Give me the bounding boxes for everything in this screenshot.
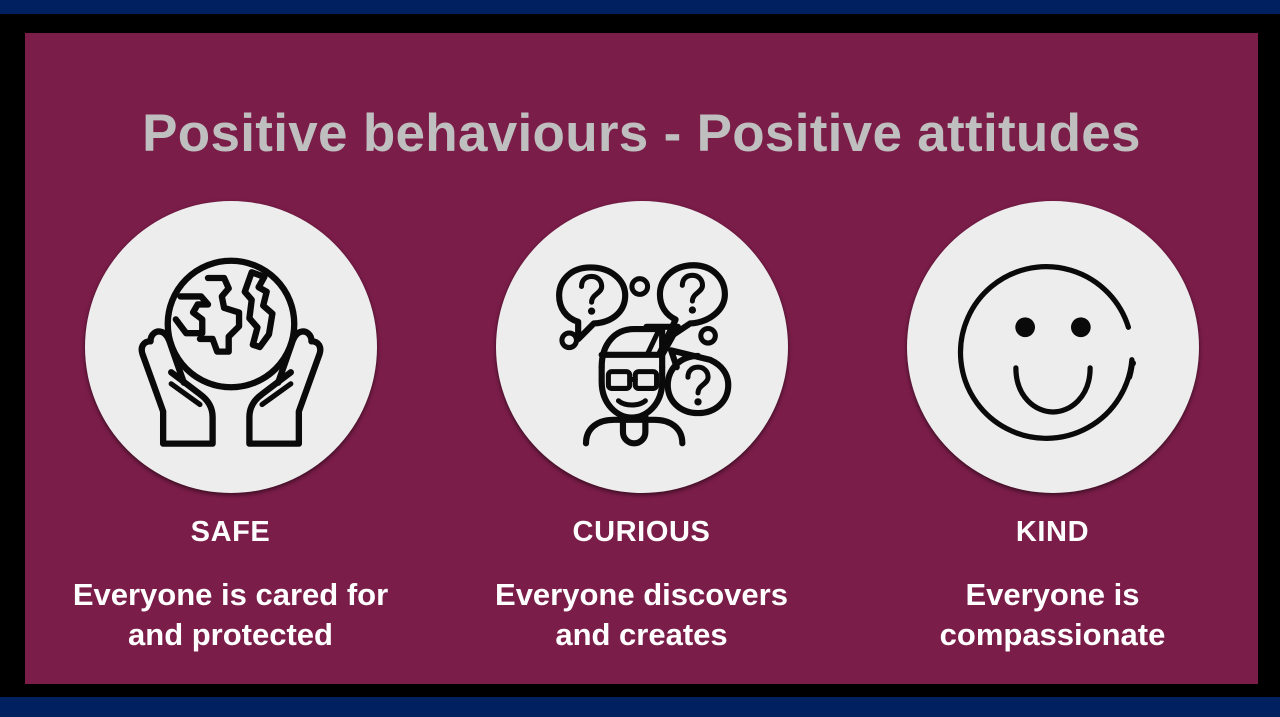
value-column-kind: KIND Everyone is compassionate xyxy=(847,201,1258,654)
curious-person-questions-icon xyxy=(530,235,754,459)
slide-frame: Positive behaviours - Positive attitudes xyxy=(0,0,1280,717)
icon-badge-safe xyxy=(85,201,377,493)
values-row: SAFE Everyone is cared for and protected xyxy=(25,201,1258,681)
slide-canvas: Positive behaviours - Positive attitudes xyxy=(25,33,1258,684)
globe-in-hands-icon xyxy=(116,232,346,462)
value-column-curious: CURIOUS Everyone discovers and creates xyxy=(436,201,847,654)
page-title: Positive behaviours - Positive attitudes xyxy=(25,103,1258,164)
value-description-curious: Everyone discovers and creates xyxy=(477,575,807,654)
value-name-kind: KIND xyxy=(1016,517,1089,549)
value-name-safe: SAFE xyxy=(191,517,271,549)
icon-badge-curious xyxy=(496,201,788,493)
smiley-face-icon xyxy=(937,231,1169,463)
icon-badge-kind xyxy=(907,201,1199,493)
value-description-safe: Everyone is cared for and protected xyxy=(66,575,396,654)
value-description-kind: Everyone is compassionate xyxy=(888,575,1218,654)
value-column-safe: SAFE Everyone is cared for and protected xyxy=(25,201,436,654)
value-name-curious: CURIOUS xyxy=(573,517,711,549)
